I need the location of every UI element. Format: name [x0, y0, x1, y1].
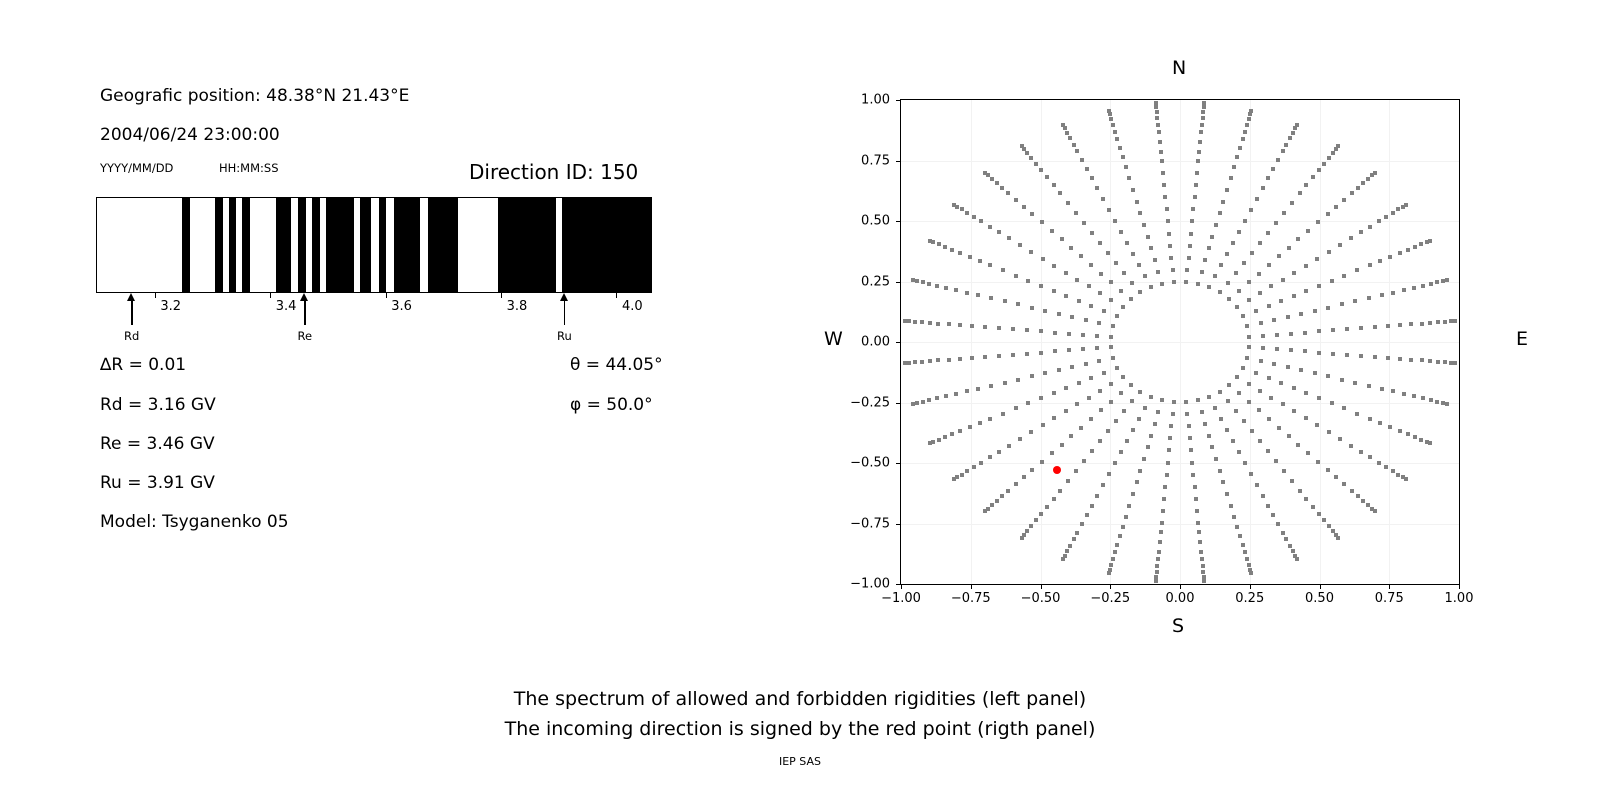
direction-point — [1386, 356, 1390, 360]
direction-point — [1247, 335, 1251, 339]
direction-point — [1121, 155, 1125, 159]
direction-point — [920, 320, 924, 324]
direction-point — [958, 251, 962, 255]
direction-point — [1066, 201, 1070, 205]
direction-point — [1114, 261, 1118, 265]
direction-point — [1185, 412, 1189, 416]
direction-point — [1412, 394, 1416, 398]
direction-point — [1207, 434, 1211, 438]
direction-point — [903, 361, 907, 365]
direction-point — [1304, 289, 1308, 293]
axis-tick — [270, 293, 271, 298]
direction-point — [1189, 448, 1193, 452]
direction-point — [1165, 207, 1169, 211]
direction-point — [1227, 297, 1231, 301]
direction-point — [1368, 225, 1372, 229]
direction-point — [1201, 570, 1205, 574]
direction-point — [1082, 221, 1086, 225]
direction-point — [1040, 460, 1044, 464]
direction-point — [1070, 365, 1074, 369]
x-tick-label: 0.00 — [1166, 591, 1195, 606]
direction-point — [1315, 257, 1319, 261]
direction-point — [1081, 333, 1085, 337]
direction-point — [1398, 323, 1402, 327]
direction-point — [1115, 137, 1119, 141]
direction-point — [943, 245, 947, 249]
direction-point — [1317, 329, 1321, 333]
direction-point — [1229, 176, 1233, 180]
direction-point — [958, 357, 962, 361]
rigidity-spectrum-panel: Geografic position: 48.38°N 21.43°E 2004… — [0, 0, 760, 620]
x-tick-mark — [1250, 585, 1251, 589]
direction-point — [1007, 236, 1011, 240]
direction-point — [1135, 200, 1139, 204]
direction-point — [915, 279, 919, 283]
direction-point — [1277, 426, 1281, 430]
direction-point — [1201, 116, 1205, 120]
x-tick-label: −0.25 — [1090, 591, 1130, 606]
direction-point — [1304, 391, 1308, 395]
footer-credit: IEP SAS — [0, 755, 1600, 768]
direction-point — [1111, 557, 1115, 561]
direction-point — [1026, 279, 1030, 283]
direction-point — [1189, 232, 1193, 236]
direction-point — [1025, 352, 1029, 356]
direction-point — [988, 225, 992, 229]
direction-point — [1171, 268, 1175, 272]
direction-point — [928, 321, 932, 325]
direction-point — [1396, 473, 1400, 477]
direction-point — [1041, 257, 1045, 261]
direction-point — [947, 322, 951, 326]
direction-point — [1087, 284, 1091, 288]
direction-point — [1258, 241, 1262, 245]
direction-point — [907, 319, 911, 323]
direction-point — [1428, 239, 1432, 243]
direction-point — [1022, 205, 1026, 209]
direction-point — [1075, 149, 1079, 153]
direction-point — [1281, 531, 1285, 535]
direction-point — [1043, 309, 1047, 313]
direction-point — [1098, 389, 1102, 393]
direction-point — [1242, 419, 1246, 423]
direction-point — [1039, 329, 1043, 333]
direction-point — [1057, 368, 1061, 372]
direction-point — [1287, 434, 1291, 438]
direction-point — [1029, 156, 1033, 160]
direction-point — [1304, 497, 1308, 501]
gridline-horizontal — [901, 161, 1459, 162]
direction-point — [1200, 123, 1204, 127]
direction-point — [1226, 399, 1230, 403]
direction-point — [1154, 101, 1158, 105]
direction-point — [1202, 579, 1206, 583]
gridline-horizontal — [901, 342, 1459, 343]
direction-point — [1221, 480, 1225, 484]
direction-point — [978, 259, 982, 263]
direction-point — [907, 361, 911, 365]
direction-point — [1041, 423, 1045, 427]
time-format-hint: HH:MM:SS — [219, 161, 279, 175]
direction-point — [1304, 183, 1308, 187]
direction-point — [983, 355, 987, 359]
direction-point — [921, 280, 925, 284]
direction-point — [1200, 270, 1204, 274]
direction-point — [1326, 212, 1330, 216]
direction-point — [983, 171, 987, 175]
direction-point — [1218, 211, 1222, 215]
direction-point — [1436, 360, 1440, 364]
direction-point — [1225, 188, 1229, 192]
arrow-shaft — [564, 299, 565, 325]
direction-point — [1030, 306, 1034, 310]
direction-point — [1122, 271, 1126, 275]
direction-point — [1106, 251, 1110, 255]
arrow-shaft — [304, 299, 305, 325]
direction-point — [1095, 346, 1099, 350]
direction-point — [1102, 371, 1106, 375]
direction-point — [1072, 143, 1076, 147]
direction-point — [1386, 324, 1390, 328]
direction-point — [928, 239, 932, 243]
direction-point — [1039, 512, 1043, 516]
direction-point — [1241, 543, 1245, 547]
direction-point — [1197, 530, 1201, 534]
y-tick-label: −0.75 — [842, 516, 890, 531]
forbidden-band — [215, 198, 223, 292]
direction-point — [1043, 371, 1047, 375]
gridline-horizontal — [901, 403, 1459, 404]
direction-point — [1172, 280, 1176, 284]
direction-point — [1115, 314, 1119, 318]
y-tick-label: 1.00 — [842, 93, 890, 108]
direction-point — [1388, 255, 1392, 259]
direction-point — [1058, 489, 1062, 493]
direction-point — [1429, 282, 1433, 286]
y-tick-mark — [896, 403, 900, 404]
direction-point — [1334, 205, 1338, 209]
direction-point — [1153, 258, 1157, 262]
direction-point — [1317, 284, 1321, 288]
direction-point — [1421, 284, 1425, 288]
direction-point — [1045, 175, 1049, 179]
direction-point — [979, 219, 983, 223]
direction-point — [913, 360, 917, 364]
direction-point — [1225, 252, 1229, 256]
x-tick-label: 0.50 — [1305, 591, 1334, 606]
direction-point — [1119, 289, 1123, 293]
direction-point — [1292, 409, 1296, 413]
direction-point — [1108, 112, 1112, 116]
direction-point — [1327, 250, 1331, 254]
direction-point — [1107, 109, 1111, 113]
direction-point — [1061, 123, 1065, 127]
direction-point — [1040, 220, 1044, 224]
direction-point — [1257, 272, 1261, 276]
direction-point — [1359, 230, 1363, 234]
direction-point — [1154, 105, 1158, 109]
direction-point — [968, 425, 972, 429]
direction-point — [1304, 264, 1308, 268]
direction-point — [1336, 144, 1340, 148]
direction-point — [1131, 492, 1135, 496]
direction-point — [1006, 191, 1010, 195]
direction-point — [1156, 557, 1160, 561]
marker-label-re: Re — [297, 329, 312, 343]
direction-point — [1326, 306, 1330, 310]
direction-point — [1435, 400, 1439, 404]
direction-point — [1282, 211, 1286, 215]
direction-point — [1322, 162, 1326, 166]
direction-point — [1109, 298, 1113, 302]
direction-point — [1162, 183, 1166, 187]
direction-point — [1267, 376, 1271, 380]
direction-point — [1153, 422, 1157, 426]
marker-label-ru: Ru — [557, 329, 572, 343]
direction-point — [1109, 563, 1113, 567]
direction-point — [1249, 208, 1253, 212]
direction-point — [1241, 137, 1245, 141]
direction-point — [1231, 439, 1235, 443]
direction-point — [1143, 274, 1147, 278]
direction-point — [1075, 402, 1079, 406]
direction-point — [1074, 469, 1078, 473]
direction-point — [1068, 544, 1072, 548]
direction-point — [1157, 130, 1161, 134]
direction-point — [1196, 159, 1200, 163]
direction-point — [972, 215, 976, 219]
direction-point — [1331, 352, 1335, 356]
direction-point — [1203, 258, 1207, 262]
direction-point — [965, 469, 969, 473]
figure-caption: The spectrum of allowed and forbidden ri… — [0, 684, 1600, 744]
direction-point — [1016, 302, 1020, 306]
direction-point — [1137, 417, 1141, 421]
direction-point — [1259, 359, 1263, 363]
direction-point — [1207, 395, 1211, 399]
direction-point — [1355, 268, 1359, 272]
direction-point — [1098, 439, 1102, 443]
direction-point — [1288, 136, 1292, 140]
direction-point — [1107, 208, 1111, 212]
direction-point — [1014, 406, 1018, 410]
direction-point — [955, 205, 959, 209]
direction-point — [1284, 537, 1288, 541]
direction-point — [1138, 211, 1142, 215]
direction-point — [1277, 254, 1281, 258]
direction-point — [1355, 412, 1359, 416]
direction-point — [1261, 186, 1265, 190]
direction-point — [1290, 201, 1294, 205]
direction-point — [1089, 417, 1093, 421]
direction-point — [1080, 522, 1084, 526]
direction-point — [1115, 366, 1119, 370]
direction-point — [1099, 272, 1103, 276]
direction-point — [1237, 391, 1241, 395]
direction-point — [903, 319, 907, 323]
direction-point — [1281, 149, 1285, 153]
direction-point — [1034, 162, 1038, 166]
direction-point — [1288, 544, 1292, 548]
direction-point — [1099, 408, 1103, 412]
direction-point — [1412, 286, 1416, 290]
y-tick-mark — [896, 463, 900, 464]
direction-point — [1066, 479, 1070, 483]
direction-point — [1018, 437, 1022, 441]
direction-point — [1161, 171, 1165, 175]
direction-point — [1316, 460, 1320, 464]
direction-point — [1127, 504, 1131, 508]
direction-point — [928, 359, 932, 363]
direction-point — [1445, 278, 1449, 282]
direction-point — [1281, 278, 1285, 282]
direction-point — [1340, 302, 1344, 306]
direction-point — [983, 509, 987, 513]
direction-point — [1195, 171, 1199, 175]
direction-point — [1022, 475, 1026, 479]
direction-point — [972, 465, 976, 469]
direction-point — [979, 461, 983, 465]
direction-point — [1169, 424, 1173, 428]
direction-point — [1391, 469, 1395, 473]
direction-point — [1286, 315, 1290, 319]
direction-point — [936, 358, 940, 362]
direction-point — [1089, 304, 1093, 308]
direction-point — [1235, 155, 1239, 159]
param-rd: Rd = 3.16 GV — [100, 395, 216, 415]
direction-point — [1238, 146, 1242, 150]
geographic-position-text: Geografic position: 48.38°N 21.43°E — [100, 86, 409, 106]
direction-point — [1245, 356, 1249, 360]
direction-point — [1202, 105, 1206, 109]
direction-point — [1109, 345, 1113, 349]
direction-point — [990, 503, 994, 507]
direction-point — [970, 324, 974, 328]
direction-point — [1306, 451, 1310, 455]
direction-point — [1113, 130, 1117, 134]
direction-point — [1052, 264, 1056, 268]
param-ru: Ru = 3.91 GV — [100, 473, 215, 493]
direction-point — [1311, 175, 1315, 179]
direction-point — [1064, 386, 1068, 390]
direction-point — [1266, 449, 1270, 453]
direction-point — [1039, 168, 1043, 172]
direction-point — [976, 387, 980, 391]
direction-point — [1420, 322, 1424, 326]
direction-point — [915, 401, 919, 405]
direction-point — [1020, 536, 1024, 540]
direction-point — [1342, 198, 1346, 202]
direction-point — [1421, 396, 1425, 400]
direction-point — [1413, 245, 1417, 249]
direction-point — [1232, 515, 1236, 519]
direction-point — [1361, 499, 1365, 503]
direction-point — [1356, 186, 1360, 190]
direction-point — [1261, 494, 1265, 498]
rigidity-axis: 3.23.43.63.84.0RdReRu — [96, 293, 652, 303]
direction-point — [1258, 389, 1262, 393]
direction-point — [1345, 353, 1349, 357]
direction-point — [1232, 165, 1236, 169]
direction-point — [944, 394, 948, 398]
x-tick-mark — [971, 585, 972, 589]
direction-point — [1052, 289, 1056, 293]
direction-point — [1190, 219, 1194, 223]
direction-point — [1130, 281, 1134, 285]
direction-point — [911, 278, 915, 282]
direction-point — [1135, 480, 1139, 484]
direction-point — [1014, 274, 1018, 278]
direction-point — [1029, 524, 1033, 528]
direction-point — [1368, 263, 1372, 267]
direction-point — [1409, 322, 1413, 326]
direction-point — [944, 286, 948, 290]
direction-point — [1247, 280, 1251, 284]
direction-point — [1218, 390, 1222, 394]
direction-point — [1090, 176, 1094, 180]
y-tick-label: −0.50 — [842, 456, 890, 471]
direction-point — [1101, 483, 1105, 487]
direction-point — [1213, 406, 1217, 410]
direction-point — [1191, 473, 1195, 477]
direction-point — [1428, 359, 1432, 363]
direction-point — [1034, 518, 1038, 522]
direction-point — [1241, 366, 1245, 370]
direction-point — [1203, 422, 1207, 426]
direction-point — [931, 440, 935, 444]
direction-point — [1077, 299, 1081, 303]
forbidden-band — [428, 198, 458, 292]
direction-point — [1398, 429, 1402, 433]
direction-point — [1160, 398, 1164, 402]
direction-point — [1247, 382, 1251, 386]
direction-point — [1218, 469, 1222, 473]
direction-point — [1130, 399, 1134, 403]
direction-point — [937, 438, 941, 442]
direction-point — [1219, 263, 1223, 267]
direction-point — [1269, 284, 1273, 288]
direction-point — [1349, 444, 1353, 448]
direction-point — [1367, 384, 1371, 388]
direction-point — [1266, 176, 1270, 180]
direction-point — [1247, 298, 1251, 302]
direction-point — [913, 320, 917, 324]
direction-point — [1149, 246, 1153, 250]
direction-point — [1267, 263, 1271, 267]
direction-point — [1299, 368, 1303, 372]
direction-point — [1267, 417, 1271, 421]
y-tick-mark — [896, 524, 900, 525]
direction-point — [1234, 271, 1238, 275]
direction-point — [1095, 334, 1099, 338]
direction-point — [989, 296, 993, 300]
direction-point — [1274, 221, 1278, 225]
direction-point — [1250, 429, 1254, 433]
direction-point — [1219, 417, 1223, 421]
direction-point — [1404, 477, 1408, 481]
forbidden-band — [298, 198, 306, 292]
compass-east: E — [1516, 328, 1528, 350]
direction-point — [1201, 110, 1205, 114]
caption-line-1: The spectrum of allowed and forbidden ri… — [0, 684, 1600, 714]
direction-point — [1142, 223, 1146, 227]
direction-point — [1245, 324, 1249, 328]
direction-point — [1303, 331, 1307, 335]
y-tick-label: 0.75 — [842, 153, 890, 168]
direction-point — [927, 398, 931, 402]
direction-point — [1296, 443, 1300, 447]
direction-point — [1331, 151, 1335, 155]
